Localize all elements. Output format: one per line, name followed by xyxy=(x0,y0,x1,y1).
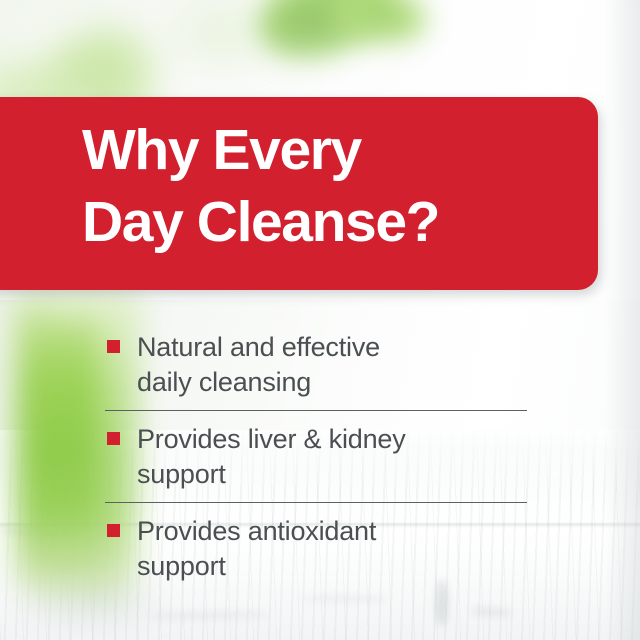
red-square-bullet-icon xyxy=(107,524,120,537)
benefit-item: Provides antioxidant support xyxy=(105,514,529,584)
benefits-list: Natural and effective daily cleansing Pr… xyxy=(105,330,529,584)
headline-text: Why Every Day Cleanse? xyxy=(82,114,582,258)
wood-grain-mark xyxy=(436,580,448,626)
benefit-text: Natural and effective daily cleansing xyxy=(137,330,529,400)
benefit-divider xyxy=(105,502,527,503)
promotional-graphic: Why Every Day Cleanse? Natural and effec… xyxy=(0,0,640,640)
benefit-divider xyxy=(105,410,527,411)
red-square-bullet-icon xyxy=(107,340,120,353)
red-square-bullet-icon xyxy=(107,432,120,445)
benefit-text: Provides liver & kidney support xyxy=(137,422,529,492)
benefit-text: Provides antioxidant support xyxy=(137,514,529,584)
headline-banner: Why Every Day Cleanse? xyxy=(0,97,598,290)
benefit-item: Natural and effective daily cleansing xyxy=(105,330,529,400)
benefit-item: Provides liver & kidney support xyxy=(105,422,529,492)
wood-grain-mark xyxy=(300,596,390,602)
right-edge-vignette xyxy=(604,0,640,640)
